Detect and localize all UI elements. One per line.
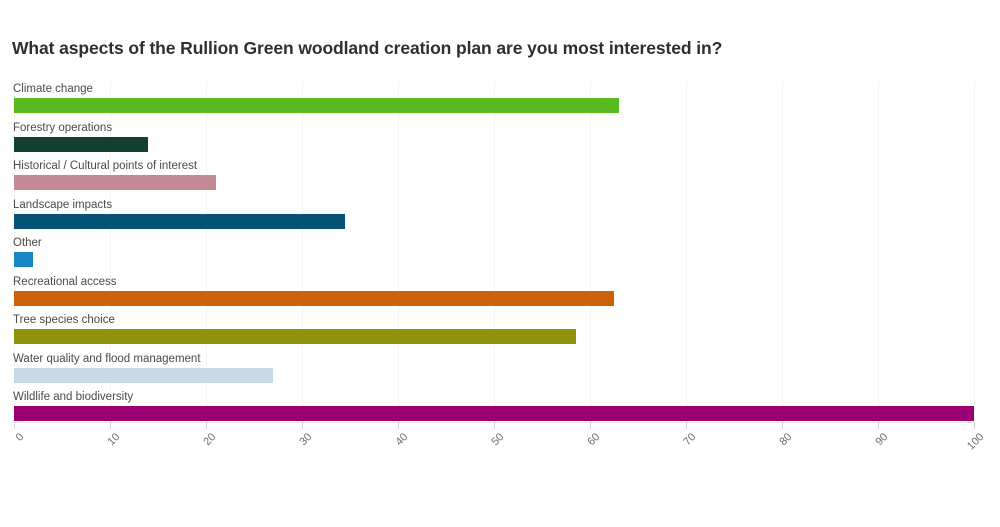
bar-row: Tree species choice [0,313,1000,352]
axis-tick [302,422,303,429]
axis-tick [398,422,399,429]
bar-track [14,252,1000,267]
axis-tick-label: 30 [218,431,314,527]
bar-track [14,329,1000,344]
bar-row: Climate change [0,82,1000,121]
axis-tick [782,422,783,429]
bar-row: Historical / Cultural points of interest [0,159,1000,198]
axis-tick [206,422,207,429]
bar [14,252,33,267]
axis-tick-label: 40 [314,431,410,527]
bar-category-label: Water quality and flood management [13,352,201,366]
bar-track [14,98,1000,113]
bar-row: Recreational access [0,275,1000,314]
bar [14,214,345,229]
bar [14,406,974,421]
axis-tick [686,422,687,429]
bar [14,175,216,190]
axis-tick-label: 0 [0,431,26,527]
bar-track [14,368,1000,383]
axis-tick [878,422,879,429]
axis-tick-label: 80 [698,431,794,527]
bar [14,98,619,113]
bar [14,329,576,344]
bar [14,368,273,383]
bar [14,291,614,306]
bar-category-label: Recreational access [13,275,117,289]
bar-row: Other [0,236,1000,275]
axis-tick-label: 20 [122,431,218,527]
x-axis: 0102030405060708090100 [0,422,1000,500]
axis-tick-label: 90 [794,431,890,527]
plot-area: Climate changeForestry operationsHistori… [0,82,1000,422]
bar-category-label: Wildlife and biodiversity [13,390,133,404]
bar [14,137,148,152]
chart-page: What aspects of the Rullion Green woodla… [0,0,1000,500]
bar-row: Forestry operations [0,121,1000,160]
axis-tick-label: 100 [890,431,986,527]
bar-category-label: Landscape impacts [13,198,112,212]
bar-category-label: Climate change [13,82,93,96]
bar-category-label: Other [13,236,42,250]
bar-row: Water quality and flood management [0,352,1000,391]
bar-category-label: Historical / Cultural points of interest [13,159,197,173]
bar-rows: Climate changeForestry operationsHistori… [0,82,1000,422]
axis-tick-label: 70 [602,431,698,527]
bar-row: Landscape impacts [0,198,1000,237]
bar-track [14,175,1000,190]
bar-track [14,137,1000,152]
axis-tick [974,422,975,429]
bar-track [14,214,1000,229]
page-title: What aspects of the Rullion Green woodla… [12,38,722,59]
bar-track [14,406,1000,421]
axis-tick-label: 10 [26,431,122,527]
axis-tick [14,422,15,429]
axis-tick-label: 50 [410,431,506,527]
axis-tick [110,422,111,429]
bar-track [14,291,1000,306]
axis-tick [590,422,591,429]
axis-tick-label: 60 [506,431,602,527]
bar-category-label: Forestry operations [13,121,112,135]
bar-category-label: Tree species choice [13,313,115,327]
axis-tick [494,422,495,429]
